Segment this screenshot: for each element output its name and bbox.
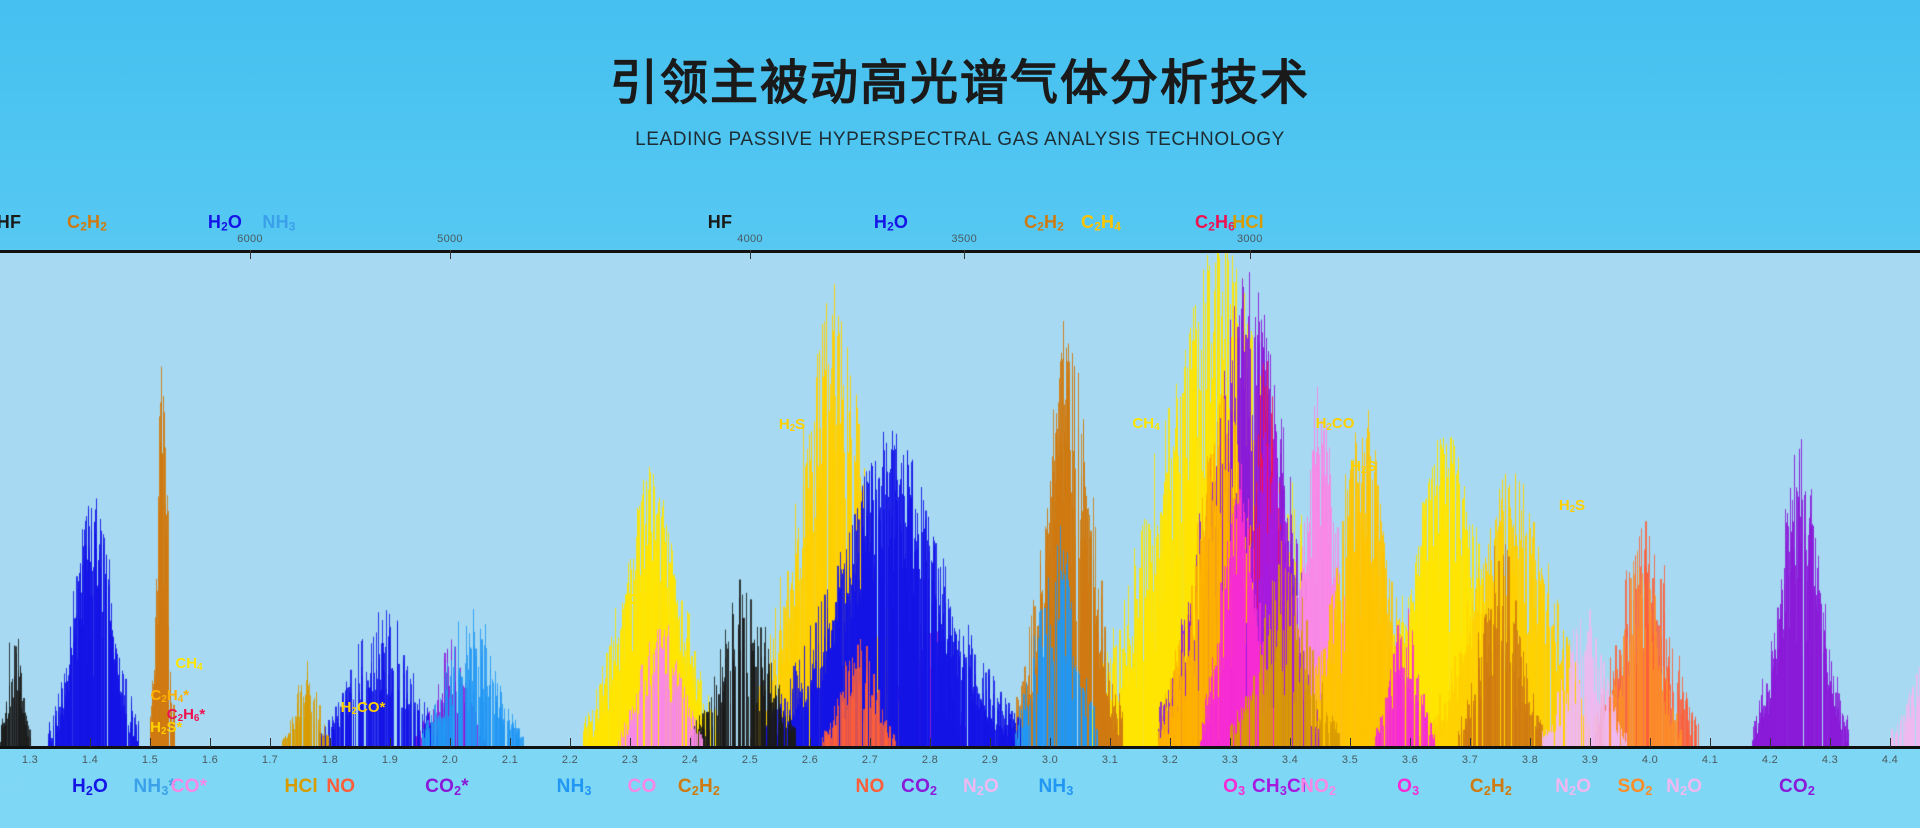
tick-bottom: [330, 738, 331, 747]
tick-label-bottom: 3.1: [1102, 754, 1118, 766]
gas-label-bottom: C2H2: [678, 776, 720, 798]
gas-label-bottom: NO: [856, 776, 885, 798]
tick-bottom: [390, 738, 391, 747]
tick-top: [1250, 250, 1251, 259]
tick-top: [250, 250, 251, 259]
gas-label-inplot: H2CO: [1316, 415, 1355, 433]
gas-label-bottom: CO*: [171, 776, 208, 798]
tick-label-bottom: 1.3: [22, 754, 38, 766]
tick-label-bottom: 2.9: [982, 754, 998, 766]
tick-label-bottom: 1.6: [202, 754, 218, 766]
tick-bottom: [1170, 738, 1171, 747]
tick-label-top: 3000: [1237, 233, 1263, 245]
tick-label-bottom: 2.8: [922, 754, 938, 766]
gas-label-top: C2H4: [1081, 212, 1121, 234]
tick-label-bottom: 1.8: [322, 754, 338, 766]
tick-label-top: 4000: [737, 233, 763, 245]
gas-label-top: HF: [0, 212, 21, 233]
gas-label-bottom: NH3: [1038, 776, 1073, 798]
tick-label-bottom: 2.7: [862, 754, 878, 766]
tick-bottom: [270, 738, 271, 747]
gas-label-bottom: HCl: [285, 776, 318, 798]
axis-top-line: [0, 250, 1920, 253]
axis-bottom-line: [0, 746, 1920, 749]
tick-label-bottom: 3.0: [1042, 754, 1058, 766]
gas-label-top: HCl: [1232, 212, 1264, 233]
tick-bottom: [1830, 738, 1831, 747]
tick-label-top: 5000: [437, 233, 463, 245]
tick-bottom: [510, 738, 511, 747]
tick-bottom: [30, 738, 31, 747]
gas-label-top: NH3: [262, 212, 295, 234]
tick-bottom: [930, 738, 931, 747]
gas-label-top: C2H6: [1195, 212, 1235, 234]
tick-label-bottom: 4.4: [1882, 754, 1898, 766]
tick-bottom: [1890, 738, 1891, 747]
tick-bottom: [570, 738, 571, 747]
tick-label-bottom: 2.1: [502, 754, 518, 766]
gas-label-bottom: O3: [1397, 776, 1419, 798]
tick-bottom: [1650, 738, 1651, 747]
tick-label-bottom: 3.9: [1582, 754, 1598, 766]
tick-bottom: [1350, 738, 1351, 747]
tick-bottom: [1410, 738, 1411, 747]
tick-label-bottom: 1.7: [262, 754, 278, 766]
gas-label-inplot: C2H4*: [151, 687, 190, 705]
tick-bottom: [1530, 738, 1531, 747]
tick-label-bottom: 1.4: [82, 754, 98, 766]
gas-label-inplot: CH4: [1132, 415, 1159, 433]
tick-bottom: [1590, 738, 1591, 747]
tick-label-bottom: 3.2: [1162, 754, 1178, 766]
gas-label-top: C2H2: [1024, 212, 1064, 234]
page-title: 引领主被动高光谱气体分析技术: [0, 0, 1920, 111]
tick-top: [450, 250, 451, 259]
tick-bottom: [1770, 738, 1771, 747]
gas-label-bottom: CH3Cl: [1252, 776, 1306, 798]
gas-label-top: HF: [708, 212, 732, 233]
tick-label-bottom: 2.6: [802, 754, 818, 766]
tick-bottom: [870, 738, 871, 747]
tick-label-bottom: 1.9: [382, 754, 398, 766]
tick-label-bottom: 3.7: [1462, 754, 1478, 766]
tick-bottom: [1470, 738, 1471, 747]
tick-bottom: [1050, 738, 1051, 747]
tick-bottom: [450, 738, 451, 747]
tick-bottom: [150, 738, 151, 747]
gas-label-inplot: H2S*: [150, 719, 182, 737]
gas-label-bottom: CO: [628, 776, 657, 798]
tick-label-bottom: 4.3: [1822, 754, 1838, 766]
tick-label-bottom: 3.4: [1282, 754, 1298, 766]
gas-label-bottom: N2O: [1555, 776, 1591, 798]
tick-bottom: [1290, 738, 1291, 747]
tick-bottom: [210, 738, 211, 747]
spectra-canvas: [0, 252, 1920, 746]
gas-label-top: H2O: [208, 212, 242, 234]
tick-label-bottom: 4.1: [1702, 754, 1718, 766]
tick-label-bottom: 2.0: [442, 754, 458, 766]
gas-label-bottom: SO2: [1617, 776, 1652, 798]
tick-label-top: 3500: [951, 233, 977, 245]
tick-bottom: [630, 738, 631, 747]
gas-label-bottom: N2O: [1666, 776, 1702, 798]
gas-label-bottom: NH3: [557, 776, 592, 798]
gas-label-top: H2O: [874, 212, 908, 234]
tick-label-bottom: 3.8: [1522, 754, 1538, 766]
tick-bottom: [90, 738, 91, 747]
tick-label-bottom: 3.3: [1222, 754, 1238, 766]
gas-label-inplot: H2CO*: [341, 699, 386, 717]
banner-header: 引领主被动高光谱气体分析技术 LEADING PASSIVE HYPERSPEC…: [0, 0, 1920, 200]
gas-label-top: C2H2: [67, 212, 107, 234]
tick-bottom: [810, 738, 811, 747]
gas-label-bottom: NO: [326, 776, 355, 798]
tick-bottom: [1110, 738, 1111, 747]
tick-label-bottom: 4.2: [1762, 754, 1778, 766]
gas-label-bottom: N2O: [963, 776, 999, 798]
tick-label-bottom: 3.5: [1342, 754, 1358, 766]
tick-label-bottom: 3.6: [1402, 754, 1418, 766]
tick-bottom: [750, 738, 751, 747]
gas-label-inplot: H2S: [779, 416, 805, 434]
plot-area: [0, 252, 1920, 746]
tick-bottom: [1710, 738, 1711, 747]
gas-label-bottom: NH3*: [133, 776, 176, 798]
tick-bottom: [1230, 738, 1231, 747]
tick-label-bottom: 2.4: [682, 754, 698, 766]
gas-label-inplot: CH4: [628, 591, 655, 609]
spectra-chart: 60005000400035003000 1.31.41.51.61.71.81…: [0, 200, 1920, 828]
tick-bottom: [690, 738, 691, 747]
gas-label-bottom: H2O: [72, 776, 108, 798]
gas-label-bottom: O3: [1223, 776, 1245, 798]
gas-label-inplot: CH4: [175, 655, 202, 673]
page-subtitle: LEADING PASSIVE HYPERSPECTRAL GAS ANALYS…: [0, 111, 1920, 151]
gas-label-bottom: CO2*: [425, 776, 469, 798]
tick-label-bottom: 1.5: [142, 754, 158, 766]
gas-label-bottom: C2H2: [1470, 776, 1512, 798]
gas-label-bottom: NO2: [1300, 776, 1336, 798]
tick-label-bottom: 4.0: [1642, 754, 1658, 766]
tick-label-bottom: 2.2: [562, 754, 578, 766]
tick-label-bottom: 2.3: [622, 754, 638, 766]
tick-bottom: [990, 738, 991, 747]
tick-label-top: 6000: [237, 233, 263, 245]
tick-label-bottom: 2.5: [742, 754, 758, 766]
gas-label-bottom: H2O: [0, 776, 27, 798]
tick-top: [964, 250, 965, 259]
gas-label-inplot: H2S: [1559, 497, 1585, 515]
tick-top: [750, 250, 751, 259]
gas-label-bottom: CO2: [1779, 776, 1815, 798]
gas-label-bottom: CO2: [901, 776, 937, 798]
gas-label-inplot: H2S: [1350, 458, 1376, 476]
